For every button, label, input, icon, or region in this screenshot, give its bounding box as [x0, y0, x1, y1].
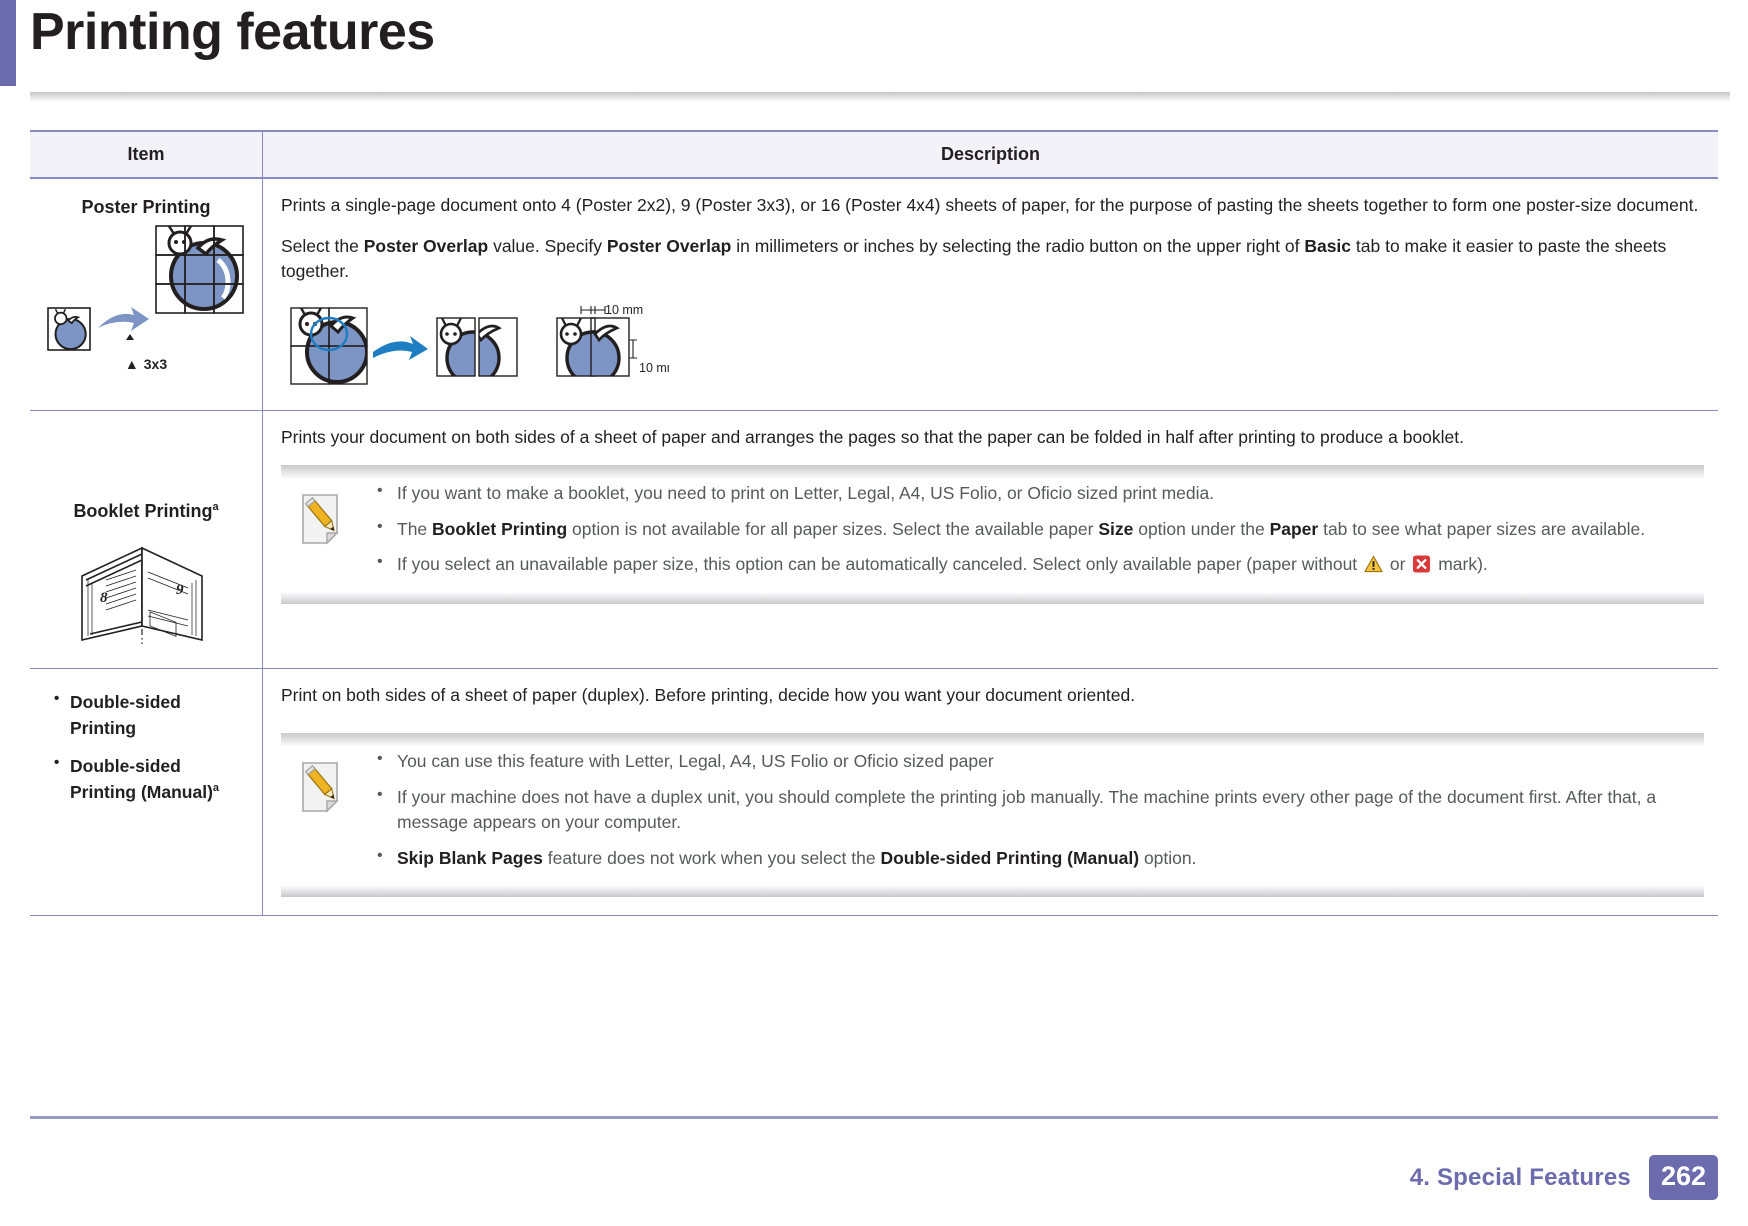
table-header-row: Item Description — [30, 131, 1718, 178]
poster-overlap-figure: 10 mm 10 mm — [289, 300, 669, 392]
booklet-paragraph-1: Prints your document on both sides of a … — [281, 425, 1704, 450]
note-pencil-icon — [299, 761, 345, 813]
cancel-cross-icon — [1412, 555, 1431, 573]
poster-printing-figure — [46, 224, 246, 354]
arrow-icon — [98, 307, 149, 331]
warning-triangle-icon — [1364, 555, 1383, 573]
poster-figure-caption: ▲3x3 — [46, 356, 246, 372]
page-header: Printing features — [0, 0, 1748, 96]
overlap-horizontal-label: 10 mm — [605, 303, 643, 317]
note-list-booklet: If you want to make a booklet, you need … — [367, 481, 1694, 577]
description-cell-double-sided-printing: Print on both sides of a sheet of paper … — [263, 668, 1719, 915]
note-item: If your machine does not have a duplex u… — [367, 785, 1694, 836]
overlap-vertical-label: 10 mm — [639, 361, 669, 375]
note-item: If you want to make a booklet, you need … — [367, 481, 1694, 506]
note-item: Skip Blank Pages feature does not work w… — [367, 846, 1694, 871]
double-sided-paragraph-1: Print on both sides of a sheet of paper … — [281, 683, 1704, 708]
note-box-booklet: If you want to make a booklet, you need … — [281, 465, 1704, 603]
description-cell-poster-printing: Prints a single-page document onto 4 (Po… — [263, 178, 1719, 410]
item-footnote-marker: a — [212, 501, 218, 513]
footer-chapter-label: 4. Special Features — [1410, 1164, 1631, 1192]
item-label-booklet-printing: Booklet Printinga — [46, 501, 246, 522]
footer-divider — [30, 1116, 1718, 1119]
poster-paragraph-2: Select the Poster Overlap value. Specify… — [281, 234, 1704, 284]
table-body: Poster Printing — [30, 178, 1718, 915]
table-row: Double-sided Printing Double-sided Print… — [30, 668, 1718, 915]
triangle-up-icon — [126, 334, 134, 340]
column-header-description: Description — [263, 131, 1719, 178]
footer-page-number: 262 — [1649, 1155, 1718, 1200]
arrow-icon — [373, 336, 428, 360]
item-cell-double-sided-printing: Double-sided Printing Double-sided Print… — [30, 668, 263, 915]
item-label-double-sided-printing: Double-sided Printing — [54, 689, 246, 742]
column-header-item: Item — [30, 131, 263, 178]
item-cell-booklet-printing: Booklet Printinga — [30, 410, 263, 668]
booklet-printing-figure: 8 9 — [76, 540, 216, 650]
item-footnote-marker: a — [213, 782, 219, 794]
note-item: If you select an unavailable paper size,… — [367, 552, 1694, 577]
header-divider — [30, 92, 1730, 102]
item-label-poster-printing: Poster Printing — [46, 197, 246, 218]
table-row: Poster Printing — [30, 178, 1718, 410]
note-pencil-icon — [299, 493, 345, 545]
poster-paragraph-1: Prints a single-page document onto 4 (Po… — [281, 193, 1704, 218]
item-label-double-sided-printing-manual: Double-sided Printing (Manual)a — [54, 753, 246, 806]
header-accent-bar — [0, 0, 16, 86]
booklet-page-number-left: 8 — [100, 590, 108, 606]
note-box-double-sided: You can use this feature with Letter, Le… — [281, 733, 1704, 897]
printing-features-table: Item Description Poster Printing — [30, 130, 1718, 916]
note-list-double-sided: You can use this feature with Letter, Le… — [367, 749, 1694, 871]
item-cell-poster-printing: Poster Printing — [30, 178, 263, 410]
table-head: Item Description — [30, 131, 1718, 178]
table-row: Booklet Printinga — [30, 410, 1718, 668]
item-bullet-list-double-sided: Double-sided Printing Double-sided Print… — [46, 689, 246, 806]
booklet-page-number-right: 9 — [176, 582, 184, 598]
page-footer: 4. Special Features 262 — [30, 1155, 1718, 1200]
note-item: You can use this feature with Letter, Le… — [367, 749, 1694, 774]
page-title: Printing features — [30, 2, 435, 62]
description-cell-booklet-printing: Prints your document on both sides of a … — [263, 410, 1719, 668]
note-item: The Booklet Printing option is not avail… — [367, 517, 1694, 542]
